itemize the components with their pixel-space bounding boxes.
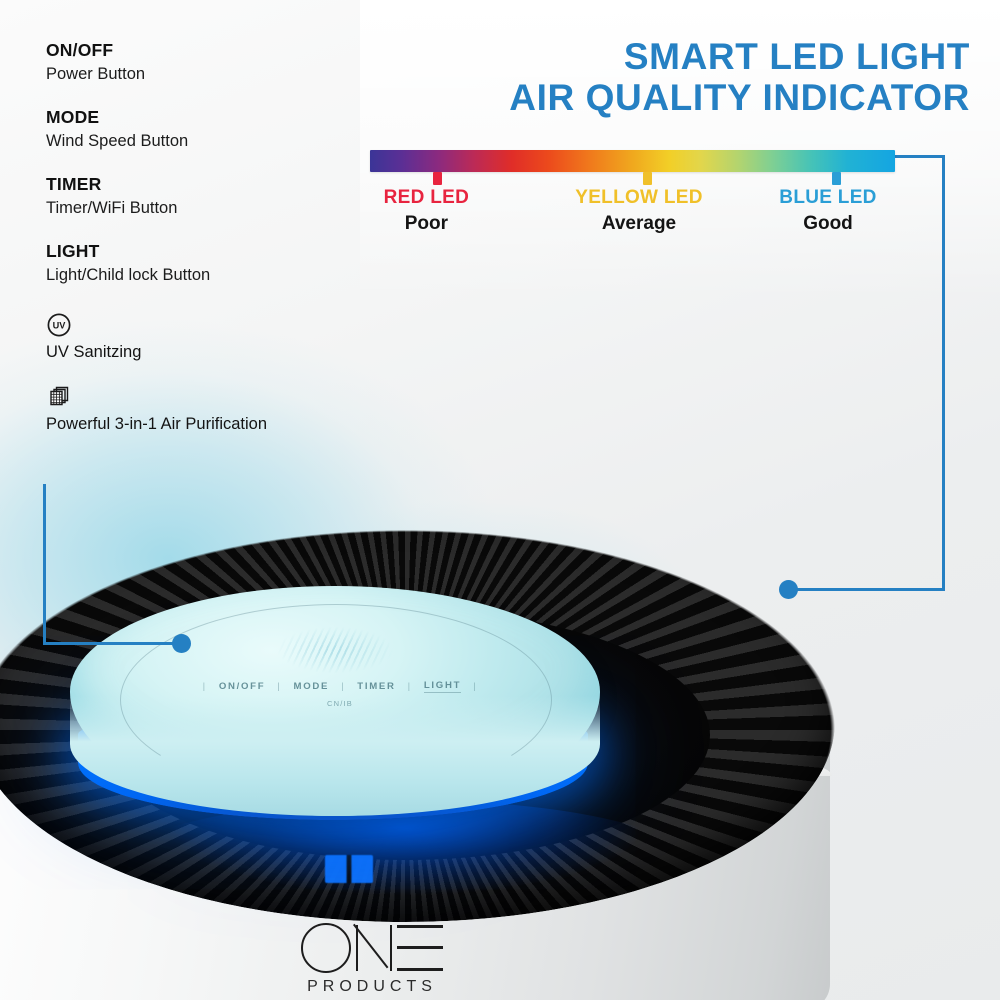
- panel-separator-4: |: [408, 681, 412, 692]
- feature-3in1-purification: Powerful 3-in-1 Air Purification: [46, 384, 376, 435]
- uv-circle-icon: UV: [46, 312, 376, 338]
- scale-tick-red: [433, 172, 442, 185]
- connector-right-horizontal-bottom: [790, 588, 945, 591]
- connector-right-vertical: [942, 155, 945, 591]
- feature-label-uv: UV Sanitzing: [46, 343, 376, 363]
- scale-ticks: [370, 172, 895, 186]
- legend-quality-blue: Good: [748, 214, 908, 235]
- legend-led-red: RED LED: [346, 188, 506, 209]
- feature-list: UV UV Sanitzing: [46, 312, 376, 436]
- spec-title-timer: TIMER: [46, 174, 376, 194]
- legend-quality-yellow: Average: [559, 214, 719, 235]
- infographic-canvas: | ON/OFF | MODE | TIMER | LIGHT | CN/IB …: [0, 0, 1000, 1000]
- brand-logo: PRODUCTS: [282, 922, 462, 996]
- spec-item-mode: MODE Wind Speed Button: [46, 107, 376, 152]
- spec-sub-timer: Timer/WiFi Button: [46, 199, 376, 219]
- panel-separator-5: |: [473, 681, 477, 692]
- panel-sublabel: CN/IB: [120, 699, 560, 708]
- connector-left-vertical: [43, 484, 46, 645]
- scale-tick-blue: [832, 172, 841, 185]
- air-quality-scale: RED LED Poor YELLOW LED Average BLUE LED…: [370, 150, 895, 246]
- connector-right-horizontal-top: [888, 155, 945, 158]
- logo-letter-e-icon: [397, 925, 443, 971]
- control-panel-labels: | ON/OFF | MODE | TIMER | LIGHT |: [120, 680, 560, 693]
- purifier-dome-emblem: [260, 620, 410, 680]
- panel-separator-1: |: [203, 681, 207, 692]
- filter-stack-icon: [46, 384, 376, 410]
- logo-letter-o-icon: [301, 923, 351, 973]
- air-quality-gradient-bar: [370, 150, 895, 172]
- panel-button-mode[interactable]: MODE: [294, 681, 330, 692]
- feature-label-purification: Powerful 3-in-1 Air Purification: [46, 415, 376, 435]
- spec-title-onoff: ON/OFF: [46, 40, 376, 60]
- spec-item-timer: TIMER Timer/WiFi Button: [46, 174, 376, 219]
- led-underglow: [110, 800, 700, 940]
- page-title: SMART LED LIGHT AIR QUALITY INDICATOR: [370, 36, 970, 119]
- spec-title-light: LIGHT: [46, 241, 376, 261]
- legend-item-blue: BLUE LED Good: [748, 188, 908, 235]
- panel-button-onoff[interactable]: ON/OFF: [219, 681, 265, 692]
- vent-led-glow: [325, 855, 373, 883]
- spec-title-mode: MODE: [46, 107, 376, 127]
- spec-item-light: LIGHT Light/Child lock Button: [46, 241, 376, 286]
- scale-tick-yellow: [643, 172, 652, 185]
- spec-sub-onoff: Power Button: [46, 65, 376, 85]
- panel-separator-2: |: [277, 681, 281, 692]
- feature-uv-sanitizing: UV UV Sanitzing: [46, 312, 376, 363]
- control-spec-list: ON/OFF Power Button MODE Wind Speed Butt…: [46, 40, 376, 457]
- legend-item-red: RED LED Poor: [346, 188, 506, 235]
- spec-sub-light: Light/Child lock Button: [46, 266, 376, 286]
- scale-legend: RED LED Poor YELLOW LED Average BLUE LED…: [370, 188, 895, 246]
- connector-left-horizontal: [43, 642, 183, 645]
- panel-separator-3: |: [341, 681, 345, 692]
- spec-item-onoff: ON/OFF Power Button: [46, 40, 376, 85]
- spec-sub-mode: Wind Speed Button: [46, 132, 376, 152]
- svg-text:UV: UV: [53, 320, 67, 330]
- header-line-2: AIR QUALITY INDICATOR: [370, 77, 970, 118]
- legend-led-yellow: YELLOW LED: [559, 188, 719, 209]
- panel-button-light[interactable]: LIGHT: [424, 680, 461, 693]
- brand-tagline: PRODUCTS: [282, 978, 462, 996]
- legend-quality-red: Poor: [346, 214, 506, 235]
- brand-wordmark: [282, 922, 462, 974]
- air-purifier-product-image: | ON/OFF | MODE | TIMER | LIGHT | CN/IB: [0, 500, 930, 1000]
- connector-right-endpoint-dot: [779, 580, 798, 599]
- logo-letter-n-icon: [356, 925, 392, 971]
- legend-item-yellow: YELLOW LED Average: [559, 188, 719, 235]
- header-line-1: SMART LED LIGHT: [624, 36, 970, 77]
- connector-left-endpoint-dot: [172, 634, 191, 653]
- panel-button-timer[interactable]: TIMER: [357, 681, 395, 692]
- legend-led-blue: BLUE LED: [748, 188, 908, 209]
